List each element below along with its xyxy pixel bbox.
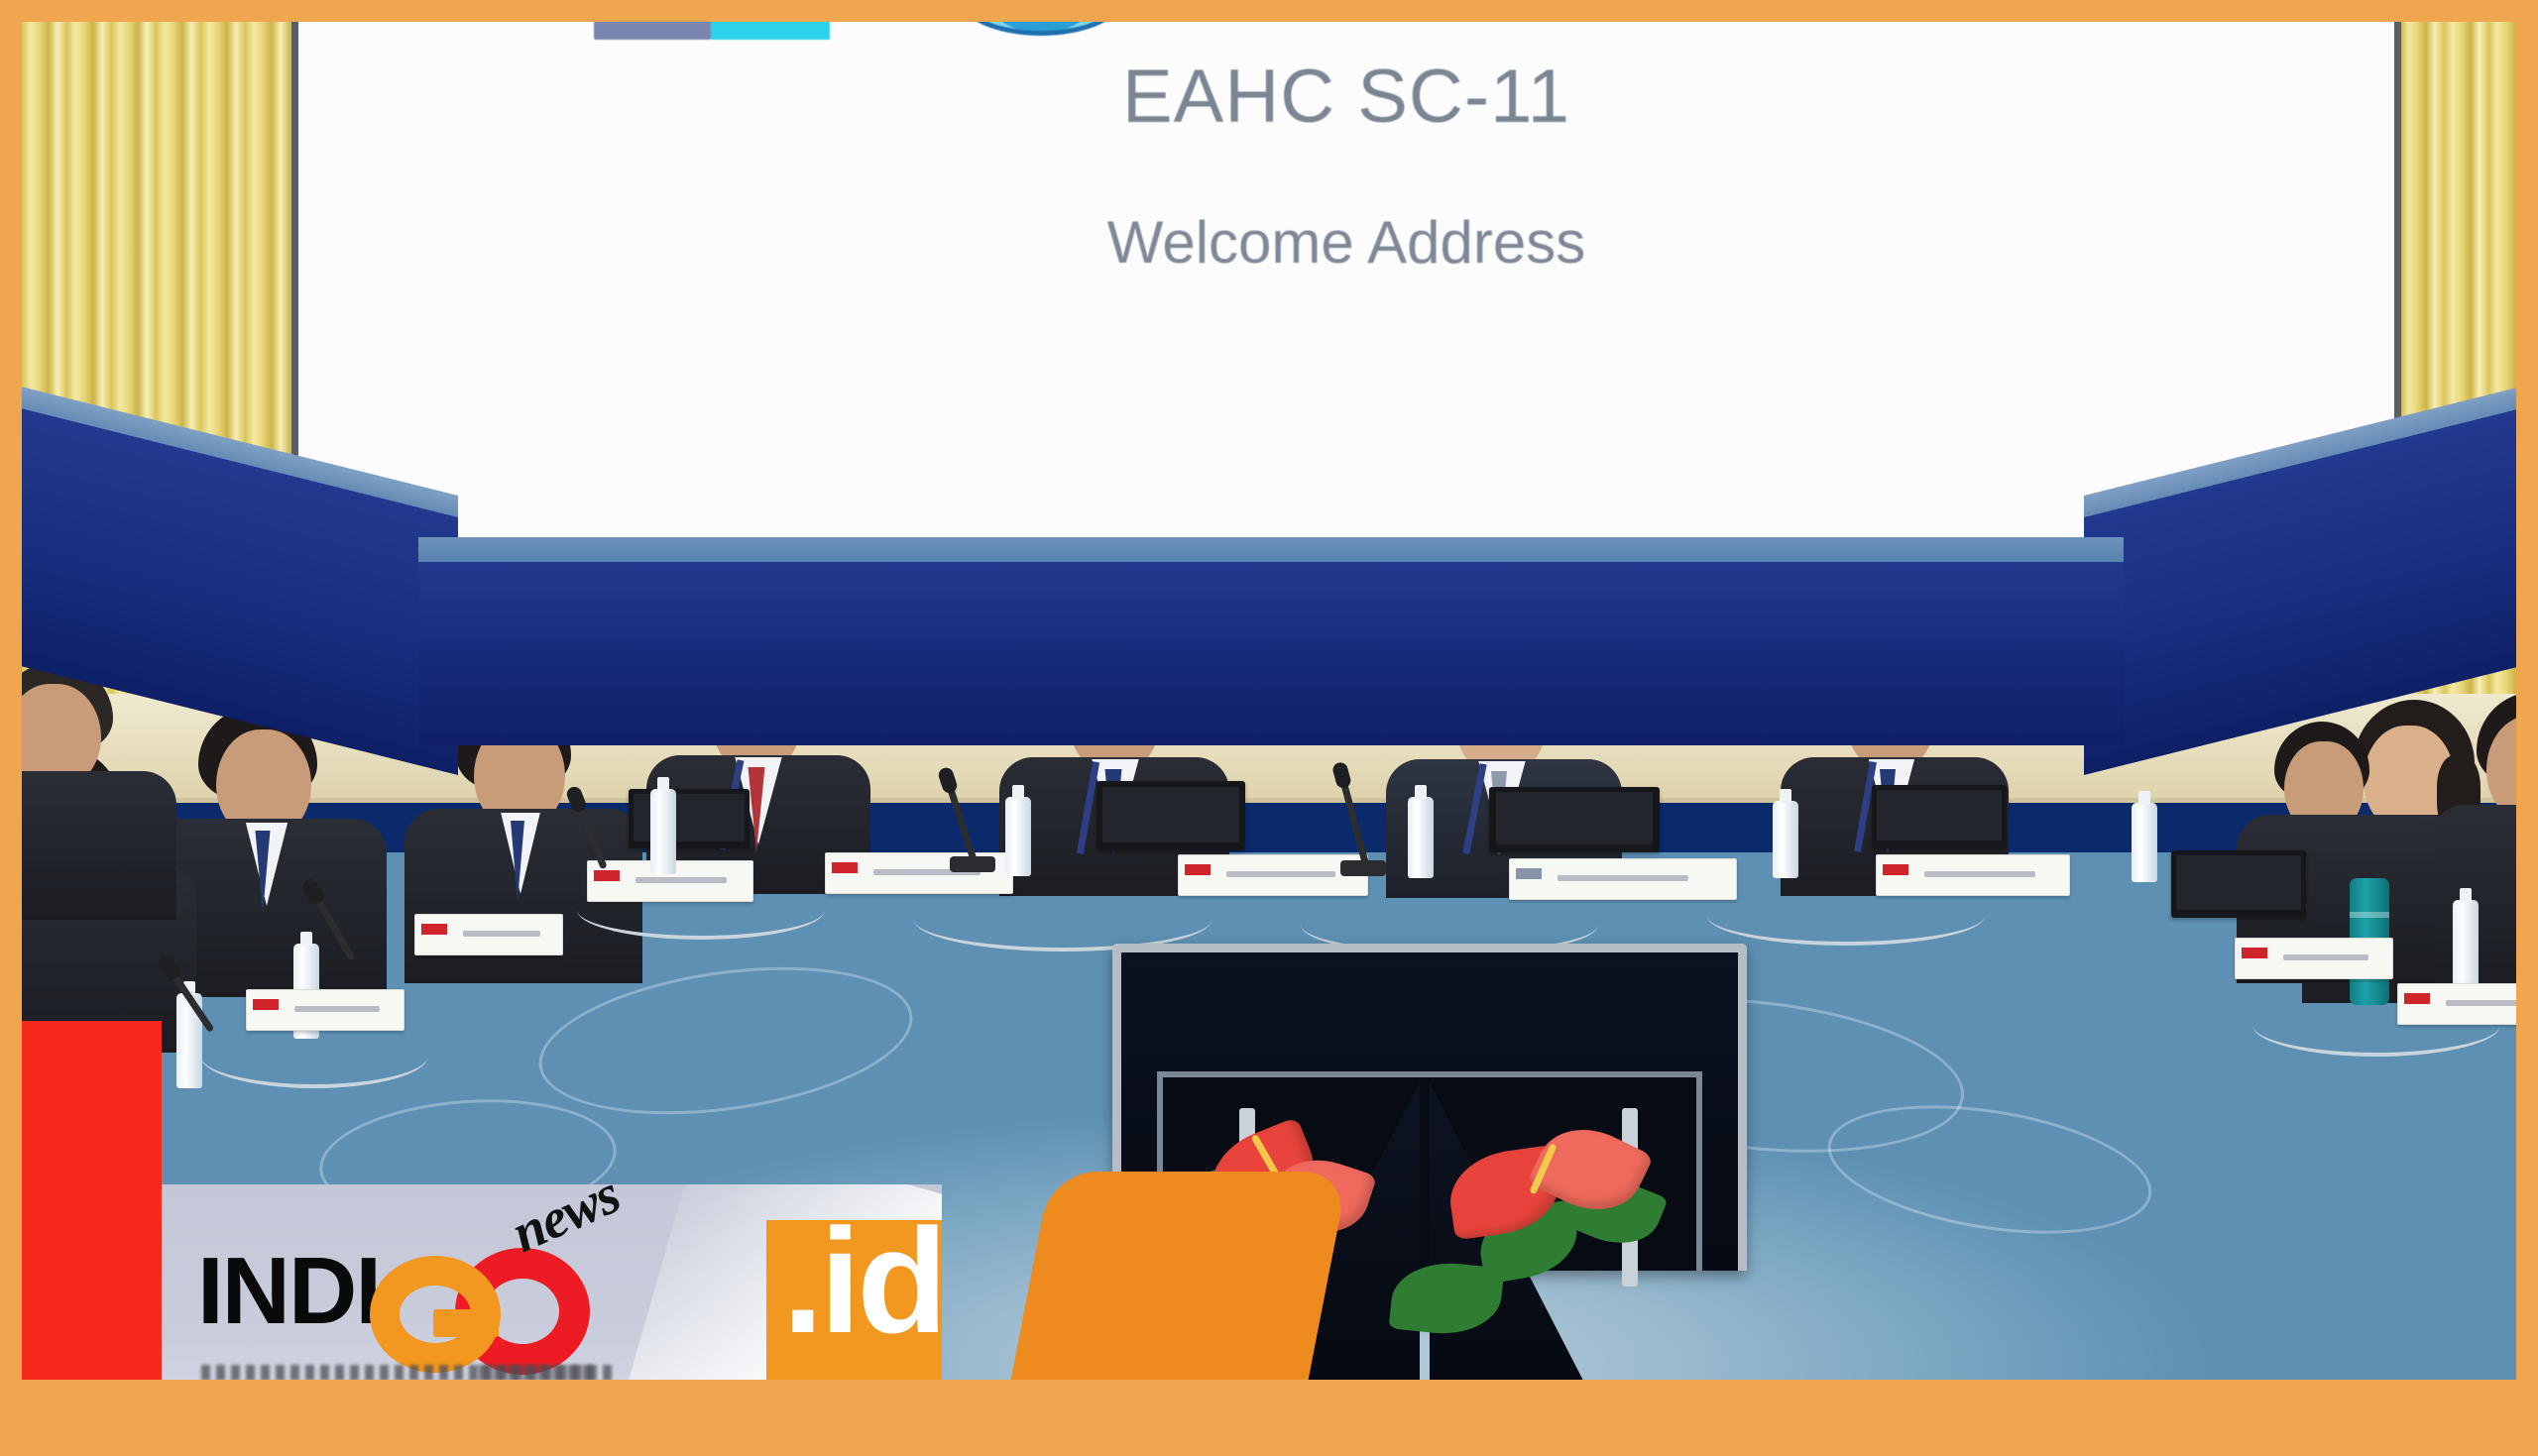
water-bottle (650, 789, 676, 874)
laptop (1489, 787, 1660, 852)
nameplate (414, 914, 563, 955)
laptop (1096, 781, 1245, 850)
eahc-block-logo-icon (594, 22, 830, 40)
laptop (629, 789, 750, 848)
laptop (1872, 785, 2007, 848)
table-skirt-back (418, 562, 2124, 745)
slide-title: EAHC SC-11 (291, 54, 2401, 140)
indigo-news-logo: INDI news .id (162, 1184, 942, 1407)
water-bottle (2132, 803, 2157, 882)
microphone-base (950, 856, 995, 872)
water-bottle (1773, 801, 1798, 878)
brand-indi-text: INDI (197, 1246, 380, 1336)
brand-tld-text: .id (782, 1206, 942, 1355)
microphone-base (1340, 860, 1386, 876)
brand-tagline-second (479, 1365, 598, 1381)
nameplate (1178, 854, 1368, 896)
brand-go-mark-icon (370, 1246, 618, 1375)
news-photograph: EAHC SC-11 Welcome Address Hangzhou, Chi… (22, 22, 2516, 1407)
screenshot-root: EAHC SC-11 Welcome Address Hangzhou, Chi… (0, 0, 2538, 1456)
organization-emblem-logo-icon (958, 22, 1124, 36)
water-bottle (1005, 797, 1031, 876)
watermark-orange-baseline (22, 1380, 2516, 1407)
slide-subtitle: Welcome Address (291, 208, 2401, 277)
nameplate (1509, 858, 1737, 900)
brand-tld-badge: .id (766, 1220, 942, 1395)
laptop (2171, 850, 2306, 918)
watermark-orange-shape (1001, 1172, 1349, 1407)
water-bottle (2453, 900, 2479, 991)
nameplate (2235, 938, 2393, 979)
water-bottle (1408, 797, 1434, 878)
watermark-red-bar (22, 1021, 162, 1407)
